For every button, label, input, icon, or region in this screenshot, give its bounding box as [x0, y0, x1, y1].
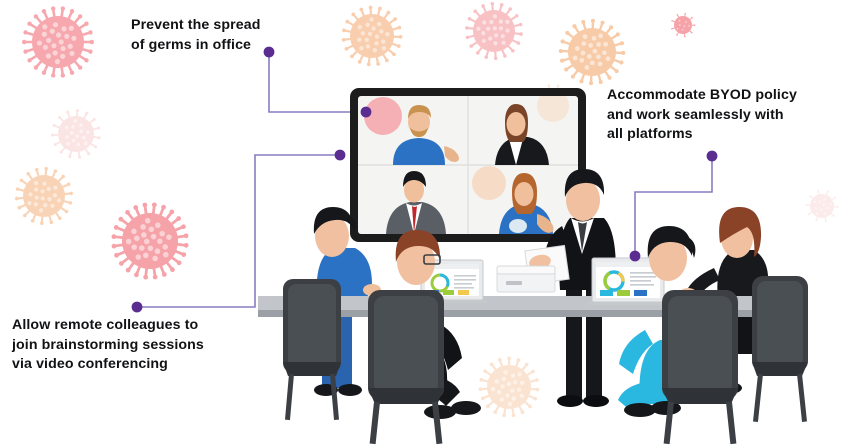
scene-artwork — [0, 0, 850, 445]
virus-icon — [51, 109, 101, 159]
virus-icon — [342, 6, 403, 67]
callout-target-dot-remote-colleagues — [335, 150, 346, 161]
callout-dot-remote-colleagues — [132, 302, 143, 313]
chair-left-back — [283, 279, 341, 420]
virus-icon — [15, 167, 73, 225]
callout-text-byod: Accommodate BYOD policy and work seamles… — [607, 86, 797, 145]
virus-icon — [22, 6, 94, 77]
chair-mid-front — [368, 290, 444, 444]
illustration-canvas: Prevent the spread of germs in office Ac… — [0, 0, 850, 445]
callout-dot-prevent-germs — [264, 47, 275, 58]
callout-text-prevent-germs: Prevent the spread of germs in office — [131, 16, 261, 55]
chair-far-right — [752, 276, 808, 422]
callout-text-remote-colleagues: Allow remote colleagues to join brainsto… — [12, 316, 204, 375]
virus-icon — [559, 19, 625, 85]
virus-icon — [111, 202, 188, 279]
conference-speakerphone — [497, 266, 555, 292]
callout-target-dot-byod-policy — [630, 251, 641, 262]
virus-icon — [479, 357, 540, 418]
chair-right-front — [662, 290, 738, 444]
video-conference-display — [350, 88, 586, 242]
callout-target-dot-prevent-germs — [361, 107, 372, 118]
virus-icon — [465, 2, 523, 60]
virus-icon — [805, 190, 838, 222]
virus-icon — [671, 13, 695, 38]
callout-dot-byod-policy — [707, 151, 718, 162]
